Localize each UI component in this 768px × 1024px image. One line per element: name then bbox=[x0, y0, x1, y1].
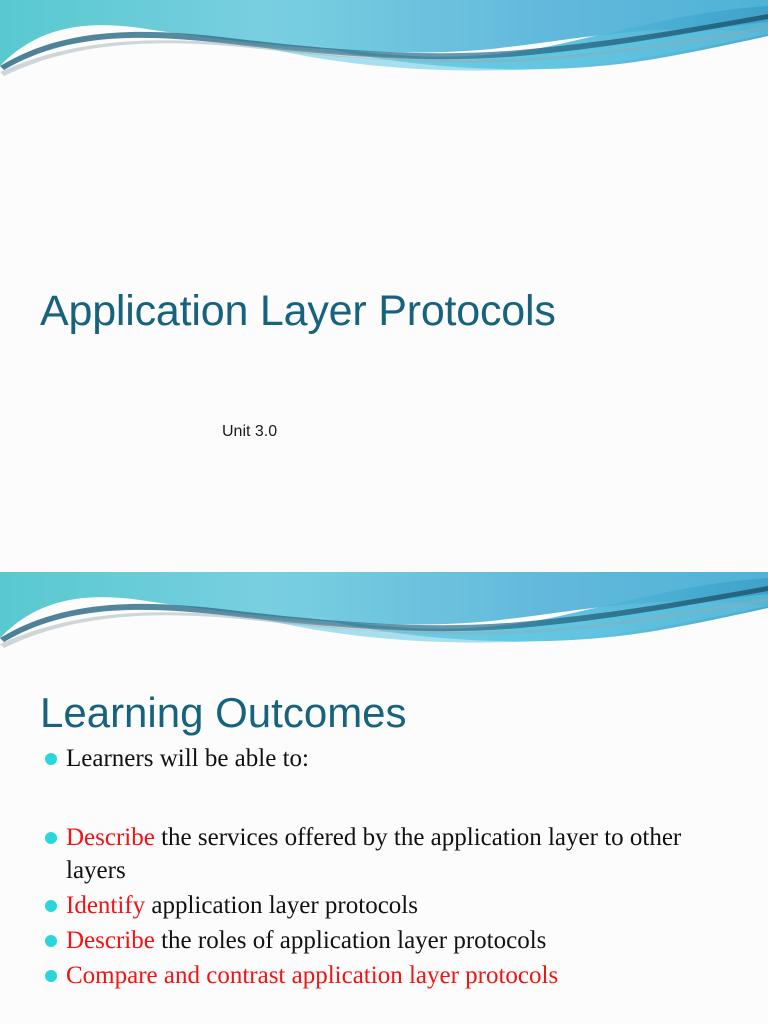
list-item: Describe the services offered by the app… bbox=[40, 821, 740, 887]
list-item: Compare and contrast application layer p… bbox=[40, 959, 740, 992]
list-item-keyword: Describe bbox=[66, 824, 155, 851]
section-heading-learning-outcomes: Learning Outcomes bbox=[40, 689, 407, 737]
list-item-keyword: Describe bbox=[66, 927, 155, 954]
header-wave-decoration-slide2 bbox=[0, 572, 768, 668]
list-item-keyword: Compare and contrast application layer p… bbox=[66, 962, 558, 989]
list-item-text: the services offered by the application … bbox=[66, 824, 681, 884]
slide-deck: Application Layer Protocols Unit 3.0 bbox=[0, 0, 768, 1024]
header-wave-decoration-slide1 bbox=[0, 0, 768, 96]
list-item-keyword: Identify bbox=[66, 892, 145, 919]
list-item-text: the roles of application layer protocols bbox=[155, 927, 547, 954]
slide-learning-outcomes: Learning Outcomes Learners will be able … bbox=[0, 572, 768, 1024]
learning-outcomes-list: Learners will be able to: Describe the s… bbox=[40, 742, 740, 992]
page-title: Application Layer Protocols bbox=[40, 287, 556, 336]
bullet-dot-icon bbox=[45, 970, 57, 982]
list-item: Identify application layer protocols bbox=[40, 889, 740, 922]
bullet-dot-icon bbox=[45, 832, 57, 844]
list-item-text: application layer protocols bbox=[145, 892, 418, 919]
bullet-dot-icon bbox=[45, 900, 57, 912]
bullet-dot-icon bbox=[45, 753, 57, 765]
bullet-dot-icon bbox=[45, 935, 57, 947]
list-item-text: Learners will be able to: bbox=[66, 745, 309, 772]
slide-title-page: Application Layer Protocols Unit 3.0 bbox=[0, 0, 768, 572]
slide-subtitle: Unit 3.0 bbox=[222, 423, 277, 441]
list-item-intro: Learners will be able to: bbox=[40, 742, 740, 775]
list-item: Describe the roles of application layer … bbox=[40, 924, 740, 957]
